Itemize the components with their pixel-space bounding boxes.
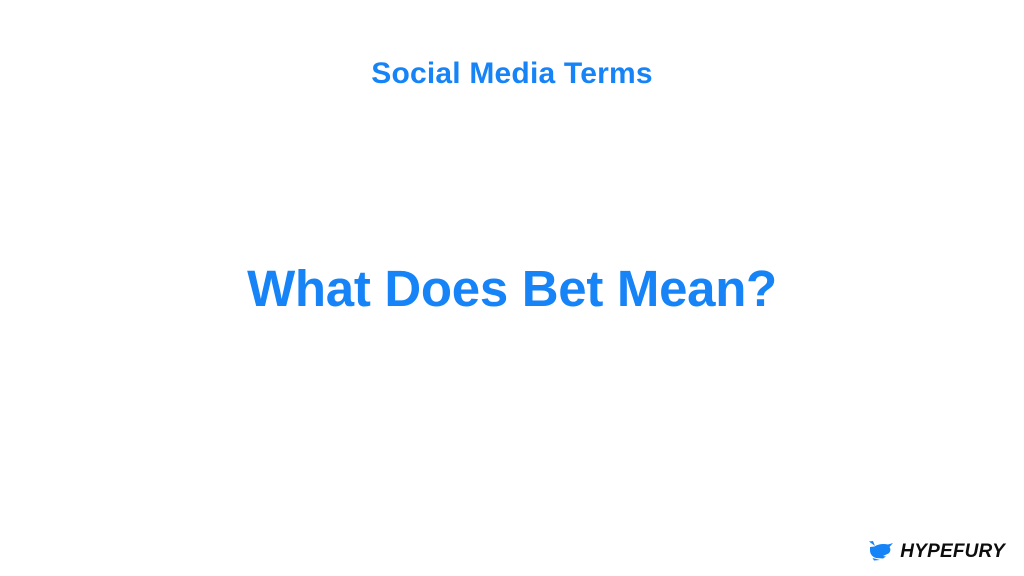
slide-title: Social Media Terms — [0, 56, 1024, 92]
brand-logo: HYPEFURY — [868, 540, 1005, 562]
hypefury-bird-icon — [868, 540, 893, 562]
brand-wordmark: HYPEFURY — [900, 542, 1005, 561]
slide-canvas: Social Media Terms What Does Bet Mean? H… — [0, 0, 1024, 576]
slide-heading: What Does Bet Mean? — [0, 258, 1024, 319]
